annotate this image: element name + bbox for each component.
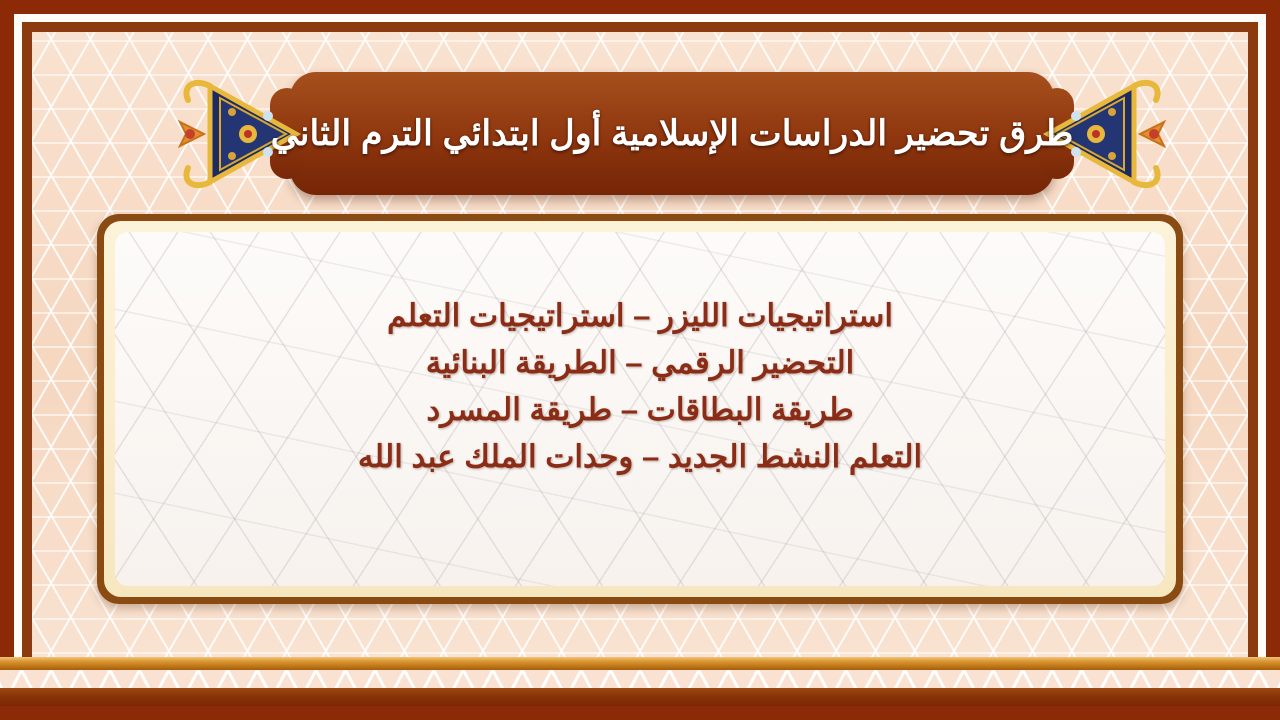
body-line: التعلم النشط الجديد – وحدات الملك عبد ال… — [358, 436, 922, 477]
bottom-gold-band — [0, 657, 1280, 670]
content-panel: استراتيجيات الليزر – استراتيجيات التعلم … — [97, 214, 1183, 604]
body-line: التحضير الرقمي – الطريقة البنائية — [426, 342, 855, 383]
body-text-block: استراتيجيات الليزر – استراتيجيات التعلم … — [358, 295, 922, 478]
body-line: استراتيجيات الليزر – استراتيجيات التعلم — [387, 295, 893, 336]
slide-canvas: طرق تحضير الدراسات الإسلامية أول ابتدائي… — [0, 0, 1280, 720]
content-panel-glow: استراتيجيات الليزر – استراتيجيات التعلم … — [104, 221, 1176, 597]
patterned-background-field: طرق تحضير الدراسات الإسلامية أول ابتدائي… — [32, 32, 1248, 688]
bottom-dark-band — [0, 688, 1280, 706]
bottom-pattern-band — [0, 670, 1280, 688]
body-line: طريقة البطاقات – طريقة المسرد — [426, 389, 853, 430]
slide-title: طرق تحضير الدراسات الإسلامية أول ابتدائي… — [182, 66, 1162, 201]
content-panel-inner: استراتيجيات الليزر – استراتيجيات التعلم … — [115, 232, 1165, 586]
title-banner: طرق تحضير الدراسات الإسلامية أول ابتدائي… — [182, 66, 1162, 201]
